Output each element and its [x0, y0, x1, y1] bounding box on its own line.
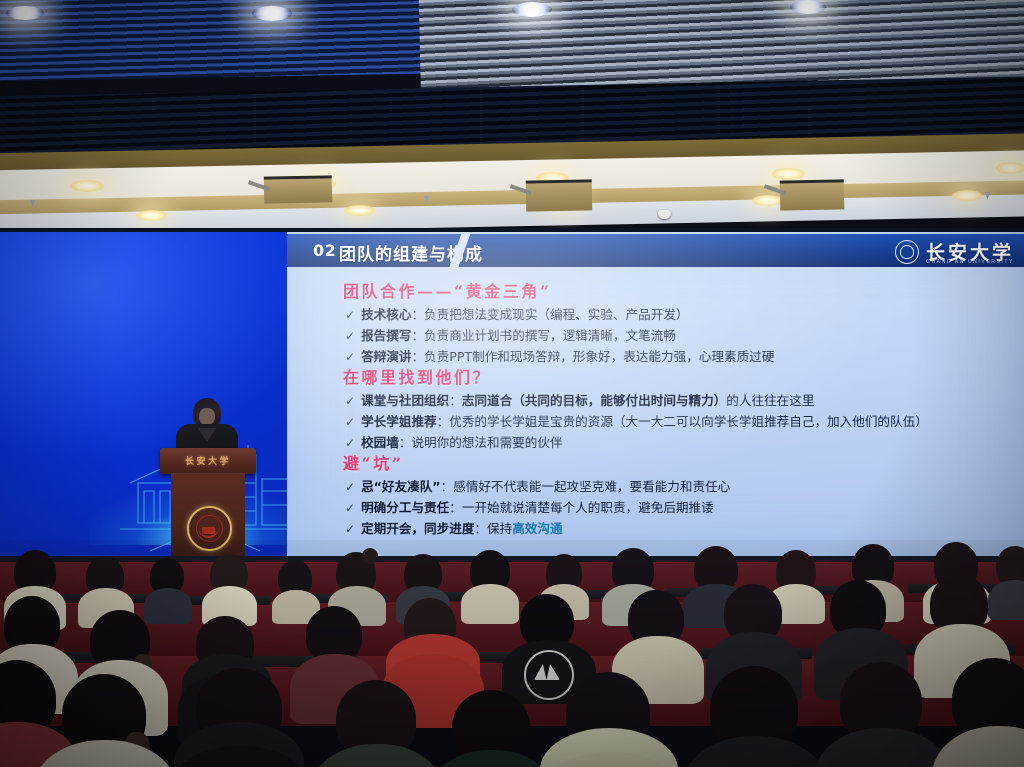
- section-1-bullet-2: ✓ 报告撰写 ： 负责商业计划书的撰写，逻辑清晰，文笔流畅: [345, 328, 1024, 344]
- section-2-bullet-3: ✓ 校园墙 ： 说明你的想法和需要的伙伴: [345, 435, 1024, 451]
- slide-section-3: 避“坑” ✓ 忌“好友凑队” ： 感情好不代表能一起攻坚克难，要看能力和责任心 …: [287, 450, 1024, 537]
- bullet-lead: 定期开会，同步进度: [361, 521, 474, 537]
- ceiling-lamp-bright-3: [512, 2, 552, 17]
- bullet-rest: 的人往往在这里: [726, 393, 814, 409]
- bullet-lead: 校园墙: [361, 435, 399, 451]
- auditorium-photo: “挑战杯”创赛 立项十院联合宣讲会 02 团队的组建与构成 长安大学 CHANG…: [0, 0, 1024, 767]
- banner-glow: [0, 232, 287, 461]
- ceiling-speaker-3: [780, 179, 845, 210]
- lectern-nameplate: 长安大学: [160, 454, 256, 467]
- university-name-en: CHANG'AN UNIVERSITY: [926, 259, 1014, 265]
- ceiling-downlight-9: [752, 195, 783, 206]
- bullet-lead: 答辩演讲: [361, 349, 411, 365]
- bullet-rest: 负责把想法变成现实（编程、实验、产品开发）: [424, 307, 688, 323]
- ceiling-lamp-bright-1: [6, 6, 44, 20]
- check-icon: ✓: [345, 436, 355, 451]
- bullet-lead: 明确分工与责任: [361, 500, 449, 516]
- ceiling-downlight-10: [952, 190, 982, 201]
- ceiling-downlight-4: [772, 168, 805, 180]
- section-3-title: 避“坑”: [343, 450, 1024, 474]
- ceiling-downlight-5: [996, 162, 1024, 174]
- bullet-sep: ：: [441, 479, 454, 495]
- section-3-bullet-2: ✓ 明确分工与责任 ： 一开始就说清楚每个人的职责，避免后期推诿: [345, 500, 1024, 516]
- slide-section-1: 团队合作——“黄金三角” ✓ 技术核心 ： 负责把想法变成现实（编程、实验、产品…: [287, 278, 1024, 365]
- slide-header-bar: 02 团队的组建与构成 长安大学 CHANG'AN UNIVERSITY: [287, 234, 1024, 267]
- bullet-rest: 负责商业计划书的撰写，逻辑清晰，文笔流畅: [424, 328, 676, 344]
- bullet-rest: 优秀的学长学姐是宝贵的资源（大一大二可以向学长学姐推荐自己，加入他们的队伍）: [449, 414, 928, 430]
- bullet-rest: 负责PPT制作和现场答辩，形象好，表达能力强，心理素质过硬: [424, 349, 774, 365]
- university-seal-icon: [895, 240, 919, 264]
- bullet-sep: ：: [449, 500, 462, 516]
- ceiling: [0, 0, 1024, 232]
- bullet-rest: 感情好不代表能一起攻坚克难，要看能力和责任心: [453, 479, 730, 495]
- section-3-bullet-3: ✓ 定期开会，同步进度 ： 保持 高效沟通: [345, 521, 1024, 537]
- person-torso: [932, 726, 1024, 767]
- bullet-rest: 保持: [487, 521, 512, 537]
- presenter-face: [199, 408, 215, 425]
- ceiling-lamp-bright-2: [252, 6, 292, 21]
- bullet-sep: ：: [474, 521, 487, 537]
- section-3-bullet-1: ✓ 忌“好友凑队” ： 感情好不代表能一起攻坚克难，要看能力和责任心: [345, 479, 1024, 495]
- ceiling-downlight-6: [136, 210, 167, 221]
- bullet-lead: 技术核心: [361, 307, 411, 323]
- person-hair-bun: [362, 548, 378, 564]
- lectern-top: 长安大学: [160, 448, 256, 474]
- emblem-red-block: [202, 527, 215, 534]
- ceiling-speaker-2: [526, 179, 593, 211]
- check-icon: ✓: [345, 394, 355, 409]
- bullet-emphasis: 志同道合（共同的目标，能够付出时间与精力）: [462, 393, 726, 409]
- ceiling-downlight-7: [344, 205, 375, 216]
- section-1-bullet-1: ✓ 技术核心 ： 负责把想法变成现实（编程、实验、产品开发）: [345, 307, 1024, 323]
- bullet-sep: ：: [437, 414, 450, 430]
- section-1-bullet-3: ✓ 答辩演讲 ： 负责PPT制作和现场答辩，形象好，表达能力强，心理素质过硬: [345, 349, 1024, 365]
- person-torso: [461, 584, 519, 624]
- bullet-rest: 一开始就说清楚每个人的职责，避免后期推诿: [462, 500, 714, 516]
- bullet-sep: ：: [411, 349, 424, 365]
- bullet-sep: ：: [399, 435, 412, 451]
- person-torso: [814, 728, 952, 767]
- person-torso: [988, 580, 1024, 620]
- audience: [0, 540, 1024, 767]
- slide-section-number: 02: [313, 241, 336, 260]
- check-icon: ✓: [345, 308, 355, 323]
- ceiling-lamp-bright-4: [790, 0, 826, 14]
- section-2-bullet-1: ✓ 课堂与社团组织 ： 志同道合（共同的目标，能够付出时间与精力） 的人往往在这…: [345, 393, 1024, 409]
- person-torso: [682, 736, 828, 767]
- person-torso: [310, 744, 444, 767]
- person-torso: [428, 750, 556, 767]
- bullet-lead: 报告撰写: [361, 328, 411, 344]
- person-torso: [144, 588, 192, 624]
- check-icon: ✓: [345, 501, 355, 516]
- bullet-highlight: 高效沟通: [512, 521, 562, 537]
- bullet-lead: 忌“好友凑队”: [361, 479, 441, 495]
- bullet-sep: ：: [411, 328, 424, 344]
- check-icon: ✓: [345, 350, 355, 365]
- check-icon: ✓: [345, 522, 355, 537]
- bullet-lead: 学长学姐推荐: [361, 414, 437, 430]
- university-seal-inner: [900, 245, 914, 259]
- bullet-rest: 说明你的想法和需要的伙伴: [411, 435, 562, 451]
- bullet-sep: ：: [449, 393, 462, 409]
- section-2-title: 在哪里找到他们？: [343, 364, 1024, 388]
- slide-section-2: 在哪里找到他们？ ✓ 课堂与社团组织 ： 志同道合（共同的目标，能够付出时间与精…: [287, 364, 1024, 451]
- bullet-lead: 课堂与社团组织: [361, 393, 449, 409]
- projection-screen: 02 团队的组建与构成 长安大学 CHANG'AN UNIVERSITY 团队合…: [287, 232, 1024, 559]
- ceiling-speaker-1: [264, 175, 333, 203]
- section-2-bullet-2: ✓ 学长学姐推荐 ： 优秀的学长学姐是宝贵的资源（大一大二可以向学长学姐推荐自己…: [345, 414, 1024, 430]
- check-icon: ✓: [345, 329, 355, 344]
- ceiling-downlight-1: [70, 180, 104, 192]
- section-1-title: 团队合作——“黄金三角”: [343, 278, 1024, 302]
- bullet-sep: ：: [411, 307, 424, 323]
- check-icon: ✓: [345, 480, 355, 495]
- check-icon: ✓: [345, 415, 355, 430]
